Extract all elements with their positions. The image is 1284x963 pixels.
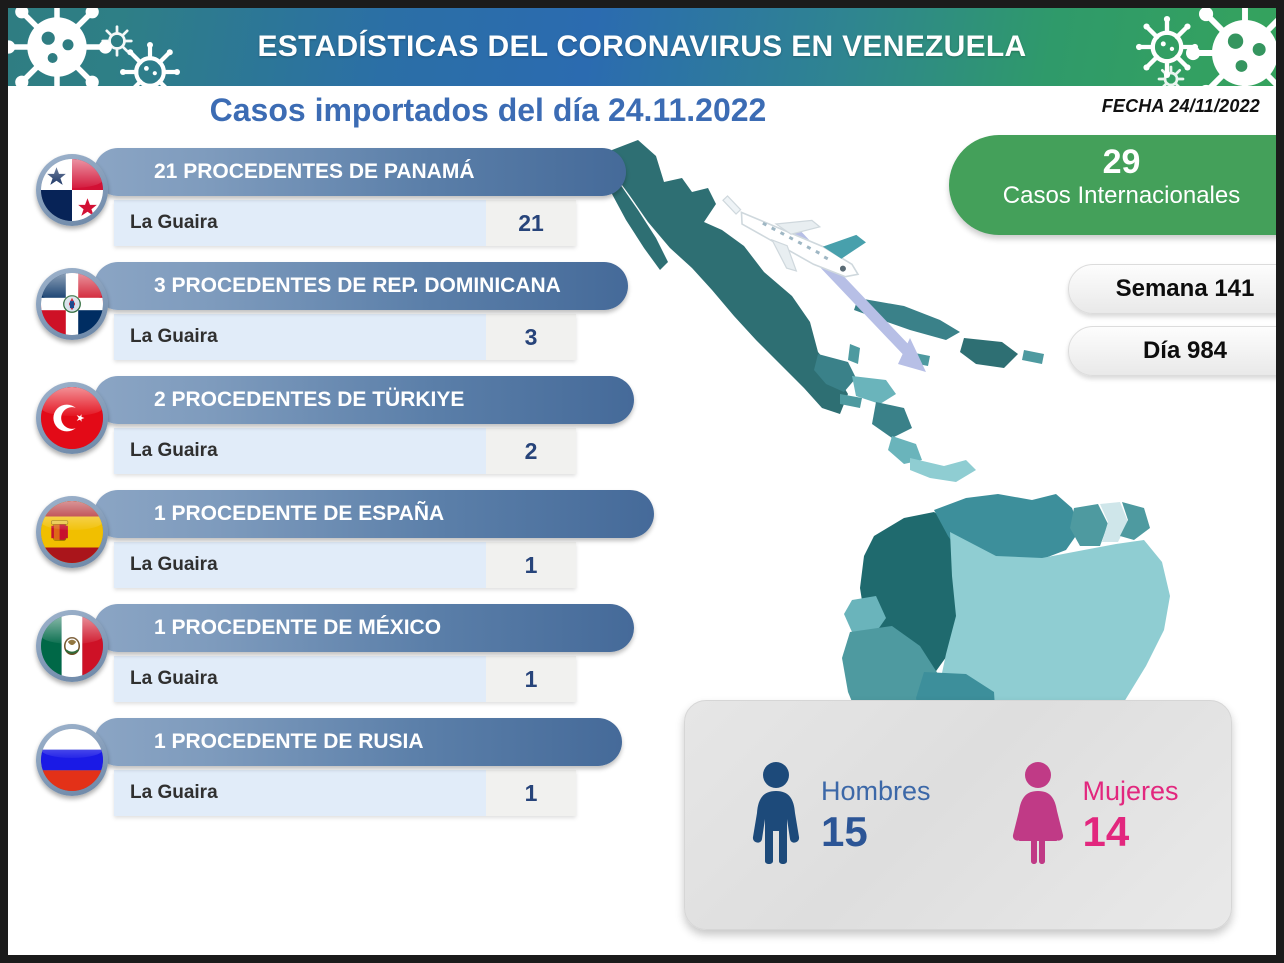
imported-cases-list: 21 PROCEDENTES DE PANAMÁ La Guaira 21 xyxy=(36,148,646,832)
female-figure-icon xyxy=(1009,761,1067,870)
state-name: La Guaira xyxy=(114,542,486,588)
map-country-guyana xyxy=(1070,504,1108,546)
international-cases-count: 29 xyxy=(949,143,1276,181)
list-item[interactable]: 1 PROCEDENTE DE ESPAÑA La Guaira 1 xyxy=(36,490,646,604)
page-title: ESTADÍSTICAS DEL CORONAVIRUS EN VENEZUEL… xyxy=(8,8,1276,86)
gender-panel: Hombres 15 Mujeres 14 xyxy=(684,700,1232,930)
header-banner: ESTADÍSTICAS DEL CORONAVIRUS EN VENEZUEL… xyxy=(8,8,1276,86)
infographic-canvas: ESTADÍSTICAS DEL CORONAVIRUS EN VENEZUEL… xyxy=(8,8,1276,955)
russia-flag-icon xyxy=(36,724,108,796)
case-count: 3 xyxy=(486,314,576,360)
case-count: 2 xyxy=(486,428,576,474)
map-panama xyxy=(910,458,976,482)
list-item[interactable]: 3 PROCEDENTES DE REP. DOMINICANA La Guai… xyxy=(36,262,646,376)
map-belize xyxy=(848,344,860,364)
international-cases-label: Casos Internacionales xyxy=(949,181,1276,211)
map-nicaragua xyxy=(872,402,912,438)
case-count: 1 xyxy=(486,656,576,702)
turkey-flag-icon xyxy=(36,382,108,454)
list-item[interactable]: 2 PROCEDENTES DE TÜRKIYE La Guaira 2 xyxy=(36,376,646,490)
female-count: 14 xyxy=(1083,808,1179,856)
list-item[interactable]: 21 PROCEDENTES DE PANAMÁ La Guaira 21 xyxy=(36,148,646,262)
state-name: La Guaira xyxy=(114,656,486,702)
fecha-label: FECHA 24/11/2022 xyxy=(1102,96,1260,117)
row-title: 21 PROCEDENTES DE PANAMÁ xyxy=(94,148,626,196)
case-count: 1 xyxy=(486,770,576,816)
row-title: 1 PROCEDENTE DE RUSIA xyxy=(94,718,622,766)
state-name: La Guaira xyxy=(114,770,486,816)
case-count: 1 xyxy=(486,542,576,588)
dominican-flag-icon xyxy=(36,268,108,340)
semana-badge: Semana 141 xyxy=(1068,264,1276,314)
state-name: La Guaira xyxy=(114,314,486,360)
map-country-mexico xyxy=(612,140,848,414)
row-detail: La Guaira 1 xyxy=(114,542,576,588)
row-title: 2 PROCEDENTES DE TÜRKIYE xyxy=(94,376,634,424)
panama-flag-icon xyxy=(36,154,108,226)
gender-male-group: Hombres 15 xyxy=(747,761,931,870)
row-title: 1 PROCEDENTE DE ESPAÑA xyxy=(94,490,654,538)
row-detail: La Guaira 2 xyxy=(114,428,576,474)
state-name: La Guaira xyxy=(114,428,486,474)
subtitle: Casos importados del día 24.11.2022 xyxy=(8,92,968,129)
male-label: Hombres xyxy=(821,774,931,808)
row-detail: La Guaira 1 xyxy=(114,770,576,816)
case-count: 21 xyxy=(486,200,576,246)
male-count: 15 xyxy=(821,808,931,856)
mexico-flag-icon xyxy=(36,610,108,682)
spain-flag-icon xyxy=(36,496,108,568)
state-name: La Guaira xyxy=(114,200,486,246)
list-item[interactable]: 1 PROCEDENTE DE MÉXICO La Guaira 1 xyxy=(36,604,646,718)
row-title: 3 PROCEDENTES DE REP. DOMINICANA xyxy=(94,262,628,310)
map-puerto-rico xyxy=(1022,350,1044,364)
map-hispaniola xyxy=(960,338,1018,368)
female-label: Mujeres xyxy=(1083,774,1179,808)
international-cases-badge: 29 Casos Internacionales xyxy=(949,135,1276,235)
row-detail: La Guaira 1 xyxy=(114,656,576,702)
gender-female-group: Mujeres 14 xyxy=(1009,761,1179,870)
male-figure-icon xyxy=(747,761,805,870)
row-detail: La Guaira 3 xyxy=(114,314,576,360)
row-detail: La Guaira 21 xyxy=(114,200,576,246)
row-title: 1 PROCEDENTE DE MÉXICO xyxy=(94,604,634,652)
dia-badge: Día 984 xyxy=(1068,326,1276,376)
list-item[interactable]: 1 PROCEDENTE DE RUSIA La Guaira 1 xyxy=(36,718,646,832)
